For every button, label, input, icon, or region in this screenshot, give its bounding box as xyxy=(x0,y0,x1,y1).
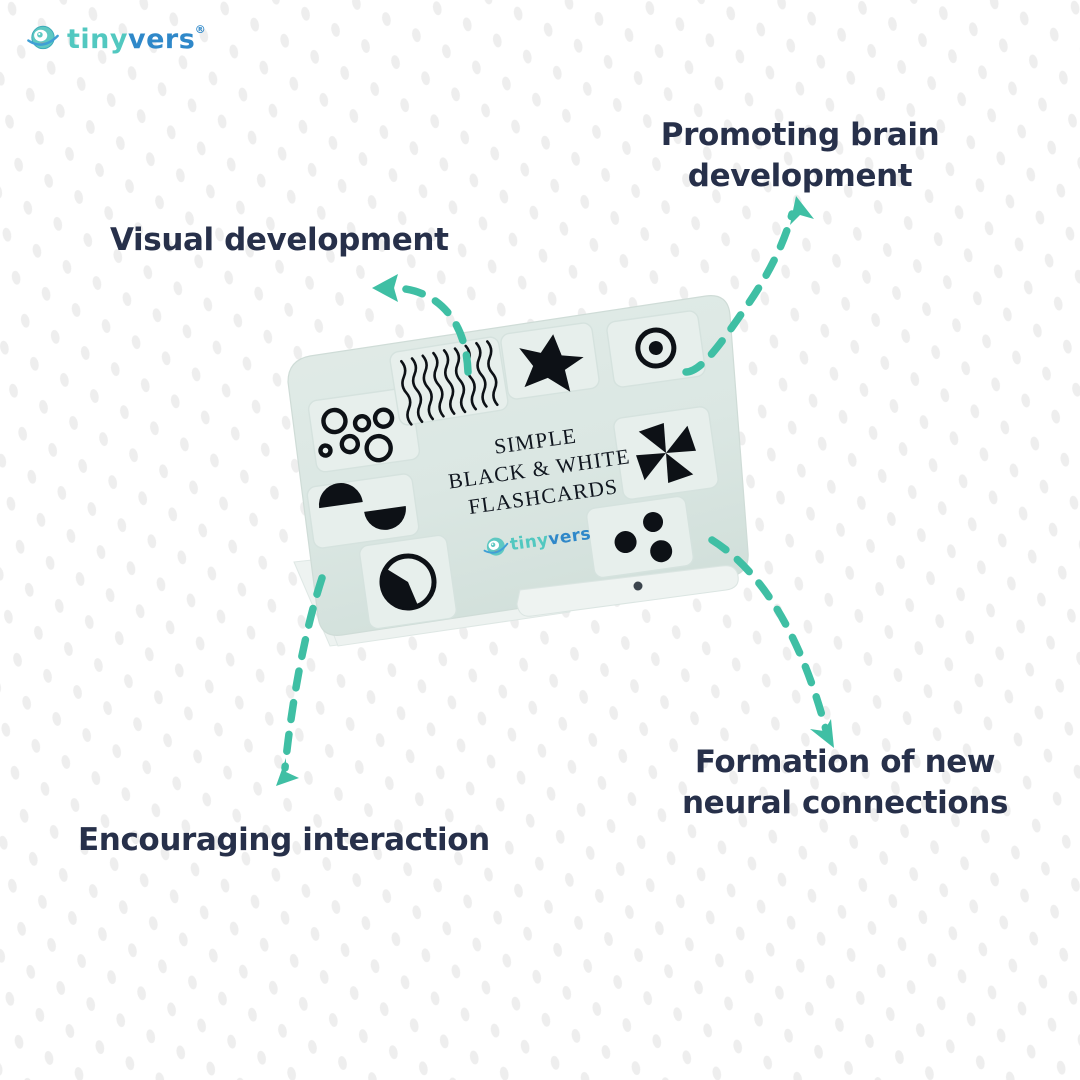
callout-line: neural connections xyxy=(680,783,1010,824)
callout-line: development xyxy=(640,156,960,197)
callout-visual-development: Visual development xyxy=(110,220,530,261)
product-illustration: SIMPLE BLACK & WHITE FLASHCARDS xyxy=(270,290,790,670)
product-flashcard-box: SIMPLE BLACK & WHITE FLASHCARDS xyxy=(270,290,790,670)
callout-line: Visual development xyxy=(110,220,530,261)
bullseye-card xyxy=(606,310,706,388)
brand-name-part1: tiny xyxy=(67,24,128,55)
callout-line: Encouraging interaction xyxy=(78,820,498,861)
brand-logo[interactable]: tinyvers ® xyxy=(26,22,195,56)
callout-promoting-brain-development: Promoting brain development xyxy=(640,115,960,197)
callout-encouraging-interaction: Encouraging interaction xyxy=(78,820,498,861)
brand-name-part2: vers xyxy=(128,24,195,55)
tinyvers-globe-icon xyxy=(26,22,60,56)
three-dots-card xyxy=(586,495,695,578)
registered-mark: ® xyxy=(195,24,207,35)
callout-line: Promoting brain xyxy=(640,115,960,156)
callout-line: Formation of new xyxy=(680,742,1010,783)
brand-wordmark: tinyvers ® xyxy=(67,26,195,53)
callout-formation-of-new-neural-connections: Formation of new neural connections xyxy=(680,742,1010,824)
star-card xyxy=(500,322,600,400)
infographic-canvas: tinyvers ® Visual development Promoting … xyxy=(0,0,1080,1080)
